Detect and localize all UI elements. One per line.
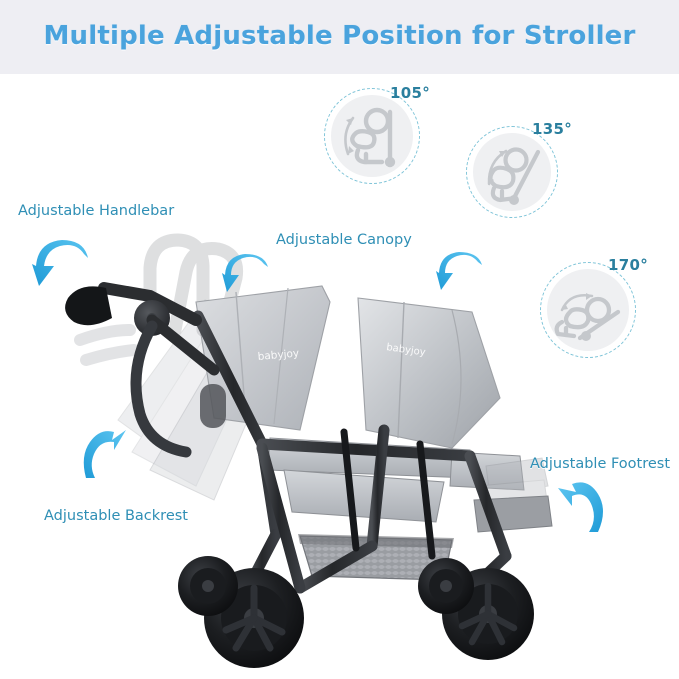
callout-handlebar-label: Adjustable Handlebar: [18, 203, 174, 219]
curved-arrow-up-right-icon: [80, 426, 128, 480]
brand-front: babyjoy: [386, 342, 427, 358]
recline-seat-105-icon: [324, 88, 420, 184]
callout-backrest-label: Adjustable Backrest: [44, 508, 188, 524]
wheel-front-large: [442, 568, 534, 660]
badge-105-degrees: 105°: [390, 84, 430, 102]
wheel-rear-small: [178, 556, 238, 616]
curved-arrow-down-left-icon: [32, 240, 92, 298]
front-canopy: [358, 298, 500, 448]
rear-canopy: [196, 286, 330, 430]
page-title: Multiple Adjustable Position for Strolle…: [0, 21, 679, 51]
seat-base: [284, 470, 444, 522]
stroller-frame: [198, 316, 506, 590]
callout-footrest-label: Adjustable Footrest: [530, 456, 670, 472]
callout-canopy-label: Adjustable Canopy: [276, 232, 412, 248]
rear-seat-pad: [268, 438, 470, 478]
recline-seat-135-icon: [466, 126, 558, 218]
wheel-front-small: [418, 558, 474, 614]
brand-rear: babyjoy: [257, 347, 299, 363]
curved-arrow-pair-icon-right: [436, 252, 484, 298]
front-seat-pad: [450, 452, 524, 490]
badge-170: 170°: [540, 262, 636, 358]
ghost-backrest-position-2: [150, 330, 278, 500]
ghost-backrest-positions: [118, 300, 266, 486]
footrest: [474, 496, 552, 532]
badge-105: 105°: [324, 88, 420, 184]
badge-135-degrees: 135°: [532, 120, 572, 138]
storage-basket: [300, 536, 452, 580]
curved-arrow-pair-icon-left: [222, 254, 270, 300]
ghost-handlebar-low: [80, 330, 134, 360]
infographic-stage: Multiple Adjustable Position for Strolle…: [0, 0, 679, 679]
wheel-rear-large: [204, 568, 304, 668]
recline-seat-170-icon: [540, 262, 636, 358]
badge-170-degrees: 170°: [608, 256, 648, 274]
badge-135: 135°: [466, 126, 558, 218]
curved-arrow-up-left-icon: [558, 478, 610, 534]
